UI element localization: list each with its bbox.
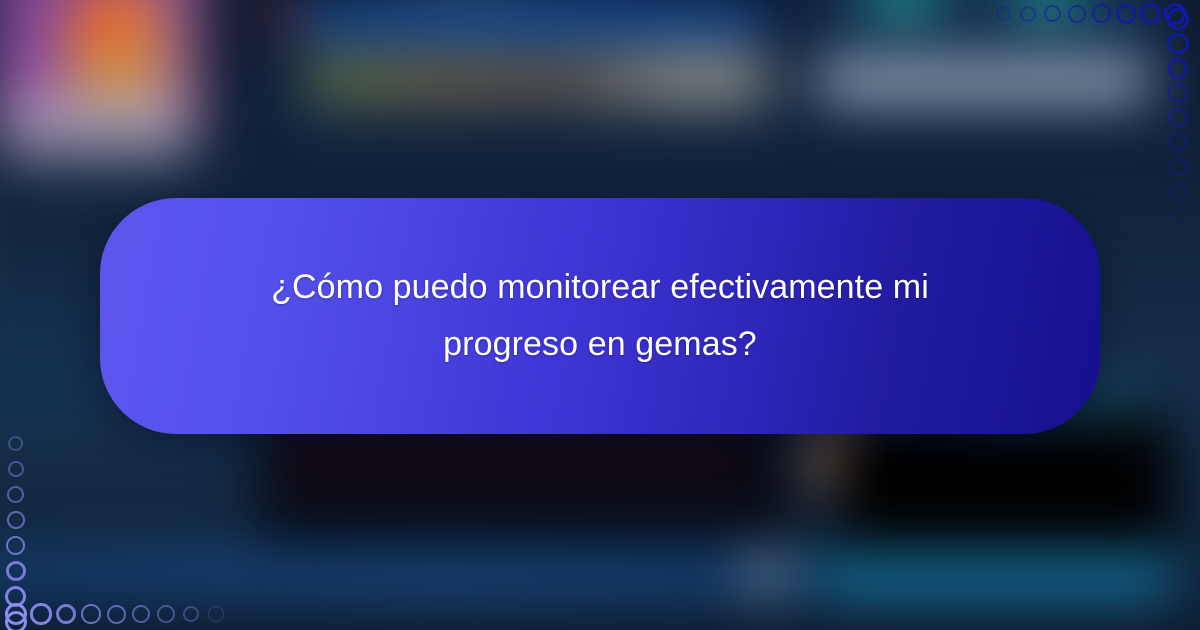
background-teal-badge-2 (1020, 0, 1079, 9)
background-white-input-bar (818, 66, 1147, 96)
question-text: ¿Cómo puedo monitorear efectivamente mi … (220, 259, 980, 373)
background-art-character (68, 0, 159, 102)
background-teal-badge-1 (873, 0, 932, 9)
background-left-panel (0, 286, 91, 424)
screenshot-canvas: ¿Cómo puedo monitorear efectivamente mi … (0, 0, 1200, 630)
background-center-red-tab (274, 0, 297, 36)
question-card[interactable]: ¿Cómo puedo monitorear efectivamente mi … (100, 198, 1100, 434)
background-center-item-strip (303, 51, 769, 106)
background-bottom-black-panel (833, 414, 1172, 552)
background-bottom-cyan-bar (820, 558, 1172, 594)
background-art-base (2, 100, 191, 166)
background-center-menu-bar (299, 0, 765, 36)
background-bottom-blue-bar (0, 549, 812, 598)
background-bottom-orb (748, 554, 784, 590)
background-right-panel (812, 0, 1162, 119)
